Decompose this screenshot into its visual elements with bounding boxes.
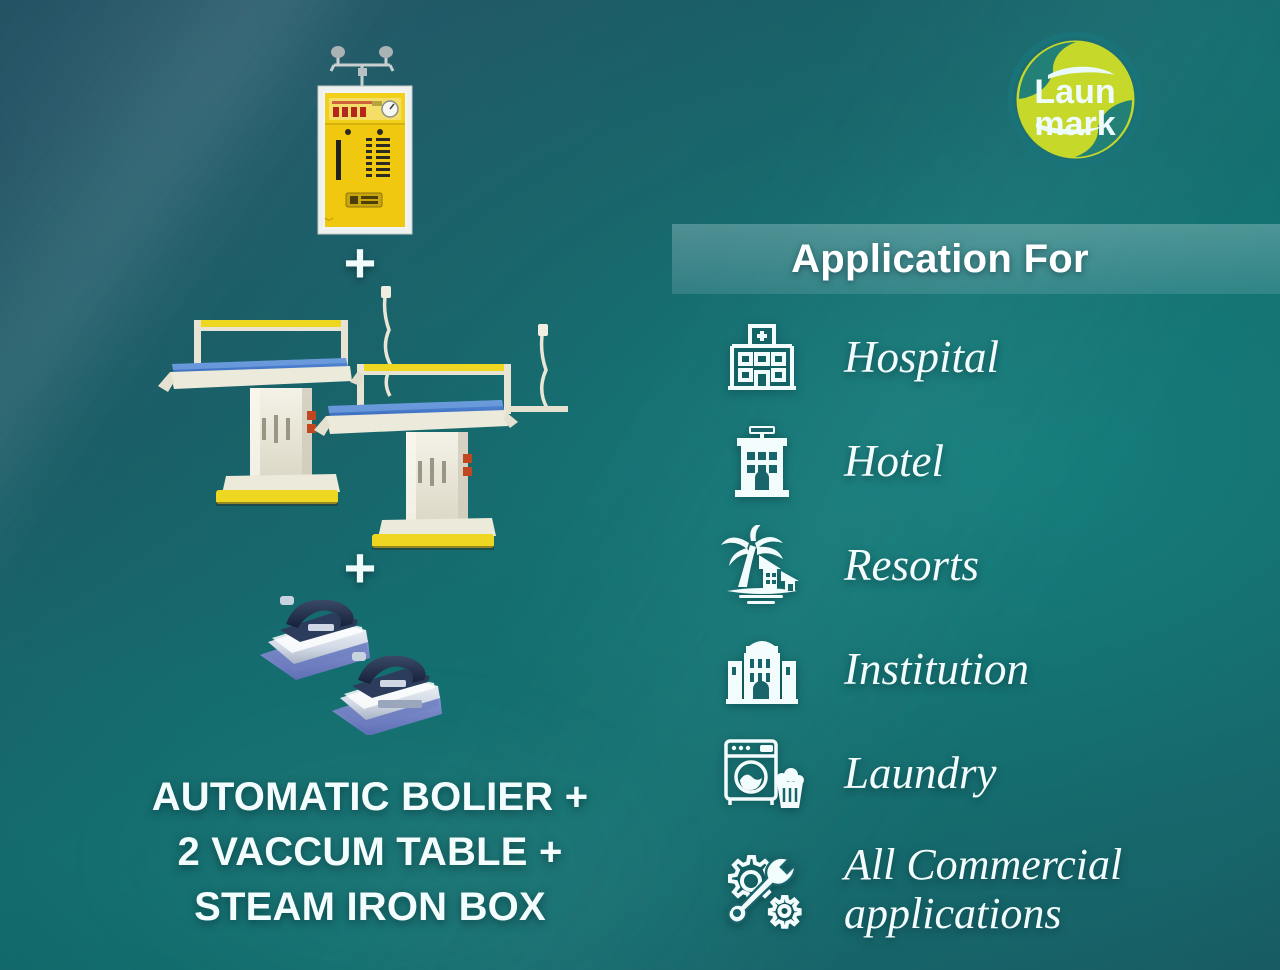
application-list: Hospital	[716, 305, 1280, 953]
application-item-label: Hospital	[844, 332, 999, 382]
application-item-hotel: Hotel	[716, 409, 1280, 513]
application-item-label: Hotel	[844, 436, 944, 486]
gears-wrench-icon	[716, 847, 808, 931]
vacuum-tables-image	[150, 278, 580, 558]
application-item-hospital: Hospital	[716, 305, 1280, 409]
automatic-boiler-image	[298, 38, 430, 236]
application-header-bar: Application For	[672, 224, 1280, 294]
hospital-icon	[716, 315, 808, 399]
application-header-title: Application For	[791, 237, 1161, 282]
caption-line-3: STEAM IRON BOX	[40, 880, 700, 935]
application-item-label: All Commercial applications	[844, 840, 1122, 939]
application-item-label: Resorts	[844, 540, 979, 590]
application-item-label: Laundry	[844, 748, 997, 798]
application-item-laundry: Laundry	[716, 721, 1280, 825]
application-item-institution: Institution	[716, 617, 1280, 721]
steam-iron-box-image	[250, 580, 465, 735]
laundry-icon	[716, 731, 808, 815]
caption-line-1: AUTOMATIC BOLIER +	[40, 770, 700, 825]
institution-icon	[716, 627, 808, 711]
product-caption: AUTOMATIC BOLIER + 2 VACCUM TABLE + STEA…	[40, 770, 700, 936]
application-item-resorts: Resorts	[716, 513, 1280, 617]
caption-line-2: 2 VACCUM TABLE +	[40, 825, 700, 880]
application-item-all-commercial: All Commercial applications	[716, 825, 1280, 953]
application-item-label: Institution	[844, 644, 1029, 694]
hotel-icon	[716, 419, 808, 503]
poster-canvas: Laun mark	[0, 0, 1280, 970]
logo-line2: mark	[1034, 105, 1115, 143]
resort-icon	[716, 523, 808, 607]
launmark-logo: Laun mark	[1007, 31, 1144, 168]
